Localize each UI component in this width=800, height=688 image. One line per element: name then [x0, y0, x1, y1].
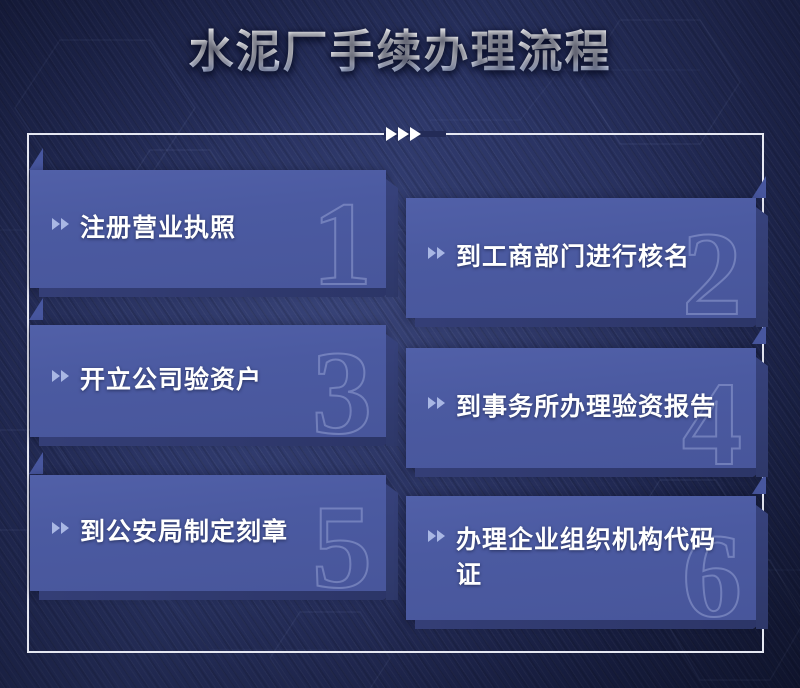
corner-accent-top-left [29, 148, 43, 170]
double-chevron-right-icon [428, 530, 445, 542]
flow-step-card-6[interactable]: 6 办理企业组织机构代码证 [406, 496, 756, 620]
arrow-triangle-3-icon [410, 127, 421, 141]
corner-accent-top-right [752, 176, 766, 198]
flow-step-card-1-content: 注册营业执照 [30, 211, 386, 247]
infographic-canvas: 水泥厂手续办理流程 1 注册营业执照 2 到工商部门进行核名 3 开立公司验资户 [0, 0, 800, 688]
double-chevron-right-icon [52, 522, 69, 534]
arrow-triangle-1-icon [386, 127, 397, 141]
corner-accent-mid-left [29, 298, 43, 320]
flow-step-label-4: 到事务所办理验资报告 [456, 390, 716, 426]
flow-step-card-3-content: 开立公司验资户 [30, 363, 386, 399]
double-chevron-right-icon [428, 247, 445, 259]
flow-step-label-3: 开立公司验资户 [80, 363, 262, 399]
page-title: 水泥厂手续办理流程 [188, 26, 611, 78]
flow-step-card-3[interactable]: 3 开立公司验资户 [30, 325, 386, 437]
double-chevron-right-icon [52, 218, 69, 230]
flow-step-card-5[interactable]: 5 到公安局制定刻章 [30, 475, 386, 591]
flow-step-card-4[interactable]: 4 到事务所办理验资报告 [406, 348, 756, 468]
flow-step-label-2: 到工商部门进行核名 [456, 240, 690, 276]
flow-step-card-1[interactable]: 1 注册营业执照 [30, 170, 386, 288]
flow-step-card-2[interactable]: 2 到工商部门进行核名 [406, 198, 756, 318]
title-container: 水泥厂手续办理流程 [0, 26, 800, 78]
flow-step-card-5-content: 到公安局制定刻章 [30, 515, 386, 551]
double-chevron-right-icon [428, 397, 445, 409]
flow-step-card-6-content: 办理企业组织机构代码证 [406, 523, 756, 594]
arrow-triangle-2-icon [398, 127, 409, 141]
flow-step-card-4-content: 到事务所办理验资报告 [406, 390, 756, 426]
flow-step-label-5: 到公安局制定刻章 [80, 515, 288, 551]
flow-step-card-2-content: 到工商部门进行核名 [406, 240, 756, 276]
flow-step-label-6: 办理企业组织机构代码证 [456, 523, 718, 594]
double-chevron-right-icon [52, 370, 69, 382]
flow-direction-arrows-icon [386, 124, 446, 144]
flow-step-label-1: 注册营业执照 [80, 211, 236, 247]
corner-accent-low-left [29, 452, 43, 474]
